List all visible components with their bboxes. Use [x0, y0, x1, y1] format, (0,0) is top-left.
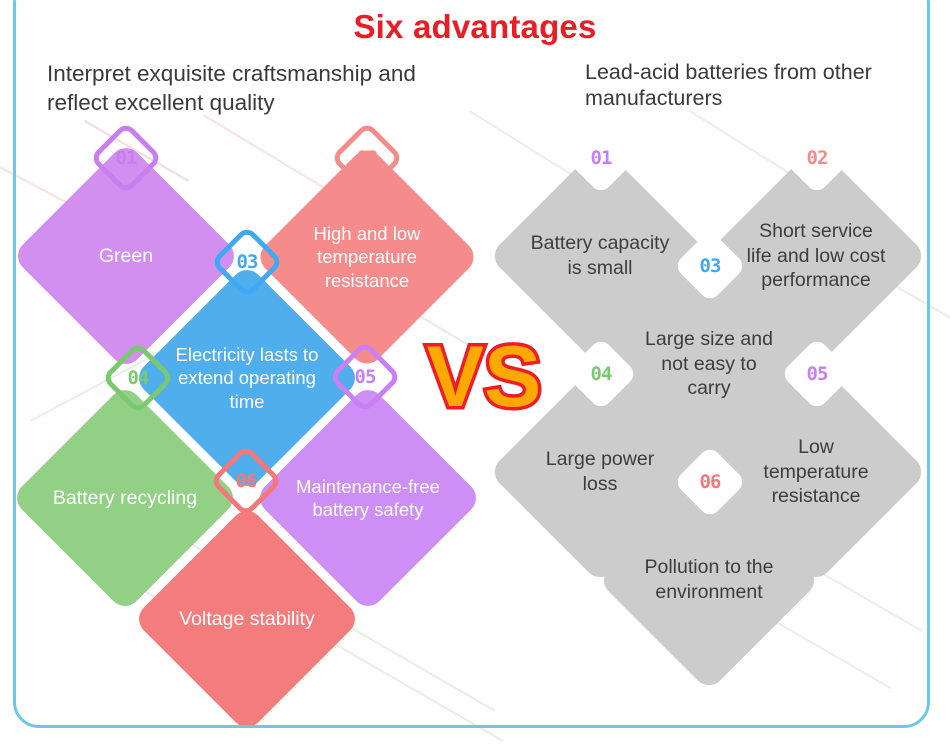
advantage-badge-05[interactable]: 05	[328, 340, 402, 414]
competitor-badge-03[interactable]: 03	[673, 229, 747, 303]
competitor-badge-06-number: 06	[683, 455, 737, 509]
competitor-badge-04-number: 04	[574, 347, 628, 401]
advantage-badge-01-number: 01	[99, 131, 153, 185]
competitor-badge-01-number: 01	[574, 131, 628, 185]
advantage-badge-06-number: 06	[219, 454, 273, 508]
advantage-badge-04-number: 04	[111, 351, 165, 405]
competitor-tile-06-label: Pollution to the environment	[630, 501, 788, 659]
advantage-badge-02[interactable]: 02	[330, 121, 404, 195]
competitor-badge-02[interactable]: 02	[780, 121, 854, 195]
advantage-badge-05-number: 05	[338, 350, 392, 404]
advantage-badge-04[interactable]: 04	[101, 341, 175, 415]
competitor-badge-05[interactable]: 05	[780, 337, 854, 411]
vs-label: VS	[427, 329, 542, 425]
advantage-badge-02-number: 02	[340, 131, 394, 185]
page-title: Six advantages	[0, 8, 950, 46]
right-column-subtitle: Lead-acid batteries from other manufactu…	[585, 60, 915, 112]
competitor-badge-03-number: 03	[683, 239, 737, 293]
infographic-canvas: Six advantages Interpret exquisite craft…	[0, 0, 950, 744]
competitor-badge-05-number: 05	[790, 347, 844, 401]
vs-badge: VS	[404, 326, 564, 426]
advantage-tile-06[interactable]: Voltage stability	[132, 504, 361, 733]
decorative-line	[329, 640, 503, 742]
advantage-badge-03-number: 03	[220, 235, 274, 289]
competitor-badge-02-number: 02	[790, 131, 844, 185]
advantage-badge-01[interactable]: 01	[89, 121, 163, 195]
competitor-badge-01[interactable]: 01	[564, 121, 638, 195]
advantage-badge-06[interactable]: 06	[209, 444, 283, 518]
advantage-tile-06-label: Voltage stability	[166, 538, 328, 700]
advantage-badge-03[interactable]: 03	[210, 225, 284, 299]
competitor-badge-06[interactable]: 06	[673, 445, 747, 519]
competitor-badge-04[interactable]: 04	[564, 337, 638, 411]
left-column-subtitle: Interpret exquisite craftsmanship and re…	[47, 60, 477, 118]
